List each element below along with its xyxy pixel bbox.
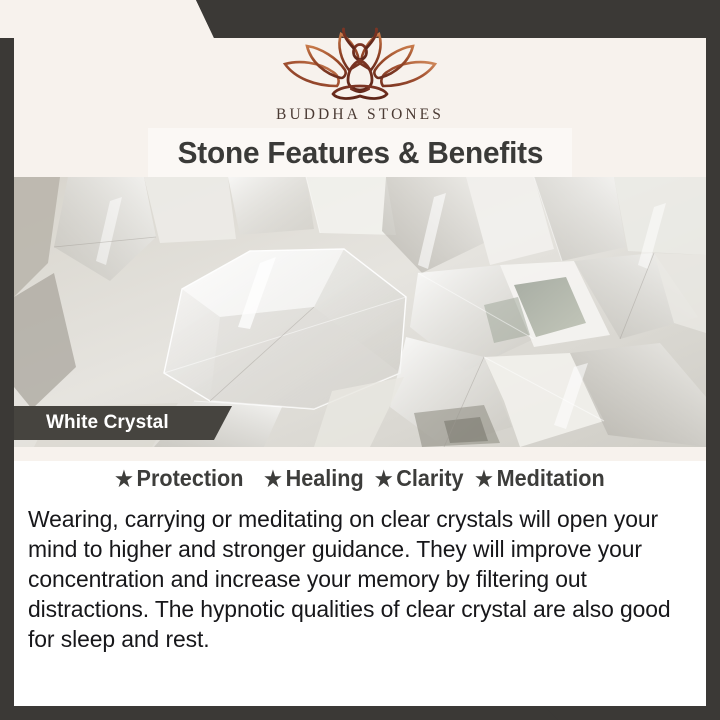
benefit-label: Clarity [396, 465, 463, 491]
crystal-name-badge: White Crystal [14, 406, 232, 440]
star-icon: ★ [115, 468, 133, 491]
content-top-strip [14, 447, 706, 461]
lotus-meditation-figure-icon [275, 26, 445, 104]
brand-header: BUDDHA STONES [14, 14, 706, 126]
star-icon: ★ [475, 468, 493, 491]
description-paragraph: Wearing, carrying or meditating on clear… [28, 504, 679, 654]
title-banner: Stone Features & Benefits [148, 128, 572, 177]
brand-name: BUDDHA STONES [276, 106, 444, 124]
benefit-label: Protection [137, 465, 244, 491]
benefit-item-healing: ★Healing [264, 465, 364, 492]
content-panel: ★Protection★Healing★Clarity★Meditation W… [14, 447, 706, 706]
infographic-frame: BUDDHA STONES Stone Features & Benefits [0, 0, 720, 720]
star-icon: ★ [264, 468, 282, 491]
frame-right-band [706, 0, 720, 720]
benefit-item-clarity: ★Clarity [374, 465, 463, 492]
benefit-label: Meditation [497, 465, 605, 491]
benefit-item-meditation: ★Meditation [475, 465, 605, 492]
page-title: Stone Features & Benefits [177, 135, 543, 171]
benefit-label: Healing [285, 465, 363, 491]
benefit-item-protection: ★Protection [115, 465, 243, 492]
star-icon: ★ [374, 468, 392, 491]
frame-left-band [0, 38, 14, 720]
crystal-name-text: White Crystal [46, 412, 169, 434]
benefits-row: ★Protection★Healing★Clarity★Meditation [14, 465, 706, 492]
